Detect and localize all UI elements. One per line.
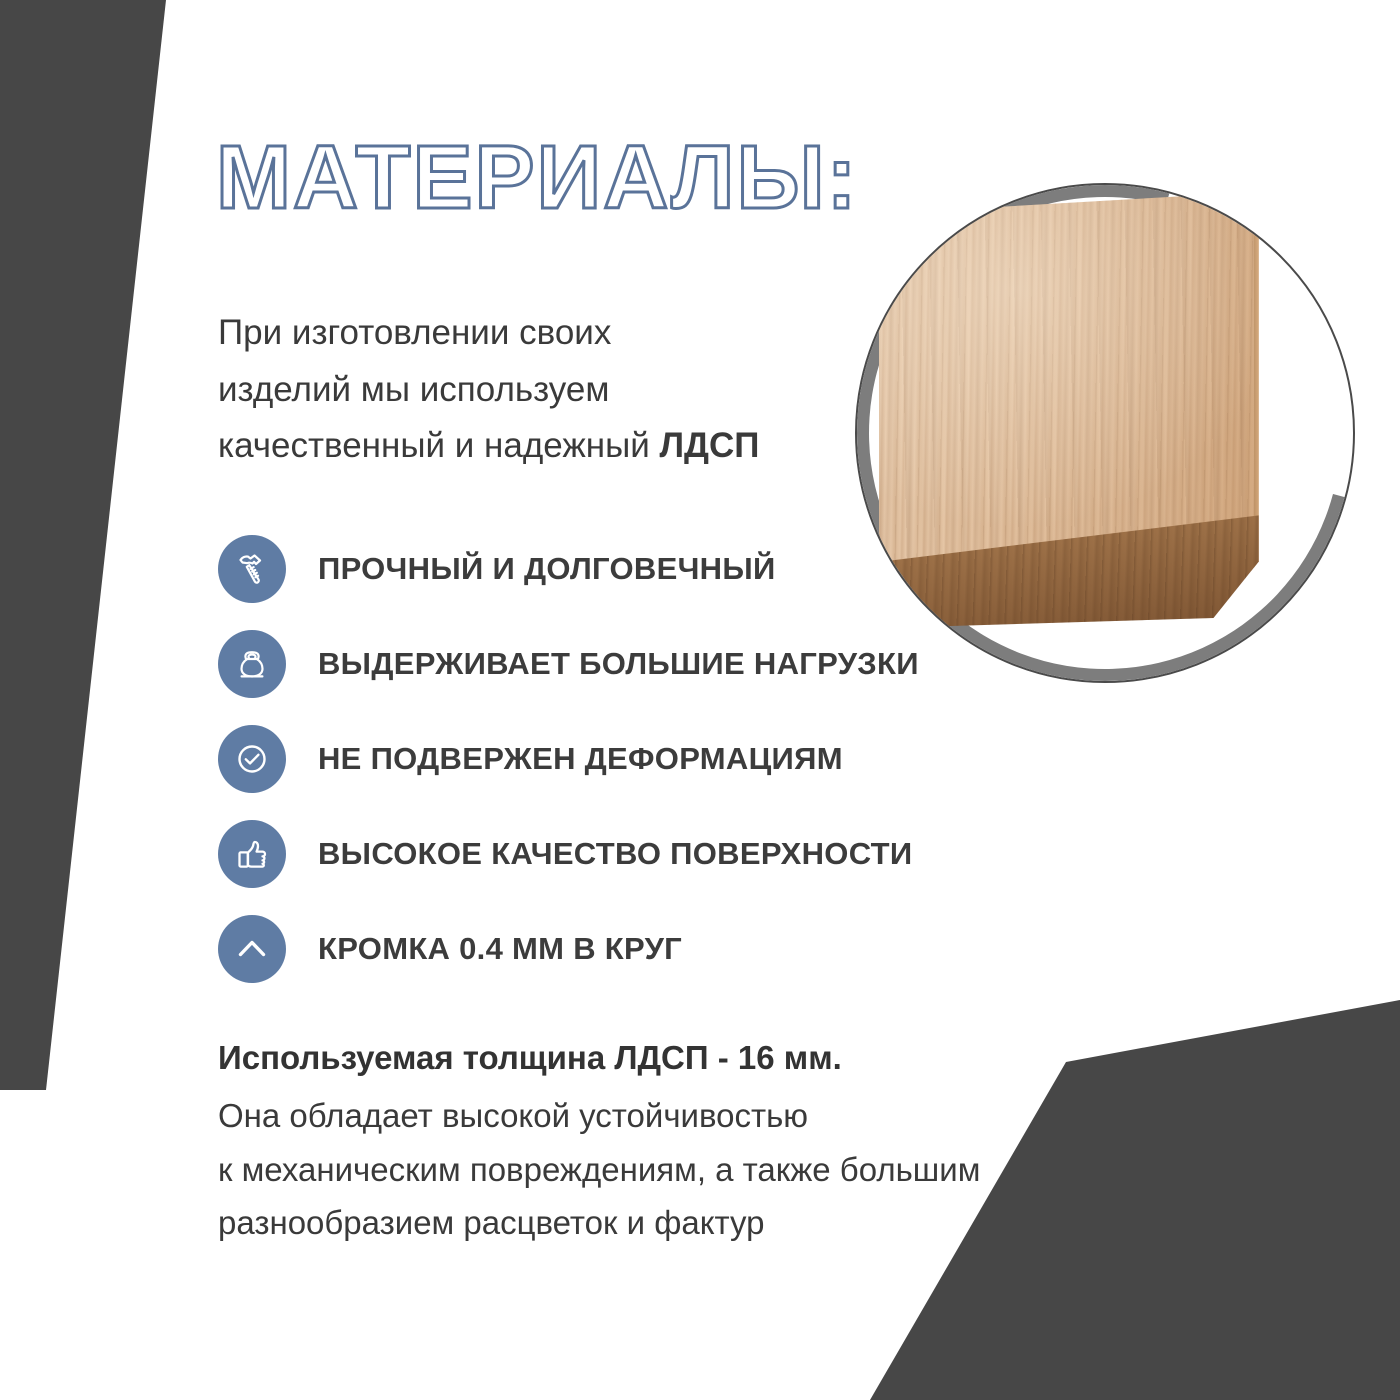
feature-label: КРОМКА 0.4 ММ В КРУГ: [318, 931, 682, 967]
feature-item-load-bearing: ВЫДЕРЖИВАЕТ БОЛЬШИЕ НАГРУЗКИ: [218, 616, 978, 711]
bottom-description: Используемая толщина ЛДСП - 16 мм. Она о…: [218, 1032, 1178, 1250]
intro-line-3: качественный и надежный ЛДСП: [218, 418, 878, 475]
material-name-highlight: ЛДСП: [660, 426, 760, 465]
feature-label: ВЫДЕРЖИВАЕТ БОЛЬШИЕ НАГРУЗКИ: [318, 646, 919, 682]
feature-label: ПРОЧНЫЙ И ДОЛГОВЕЧНЫЙ: [318, 551, 776, 587]
bottom-line-1: Она обладает высокой устойчивостью: [218, 1089, 1178, 1142]
chevron-up-icon: [218, 915, 286, 983]
intro-paragraph: При изготовлении своих изделий мы исполь…: [218, 305, 878, 475]
intro-line-3-text: качественный и надежный: [218, 426, 660, 465]
thickness-statement: Используемая толщина ЛДСП - 16 мм.: [218, 1032, 1178, 1083]
feature-label: ВЫСОКОЕ КАЧЕСТВО ПОВЕРХНОСТИ: [318, 836, 912, 872]
check-circle-icon: [218, 725, 286, 793]
feature-item-no-deformation: НЕ ПОДВЕРЖЕН ДЕФОРМАЦИЯМ: [218, 711, 978, 806]
hammer-icon: [218, 535, 286, 603]
bottom-line-3: разнообразием расцветок и фактур: [218, 1196, 1178, 1249]
page-title: МАТЕРИАЛЫ:: [216, 133, 859, 223]
intro-line-2: изделий мы используем: [218, 362, 878, 419]
thumbs-up-icon: [218, 820, 286, 888]
bottom-paragraph: Она обладает высокой устойчивостью к мех…: [218, 1089, 1178, 1249]
bottom-line-2: к механическим повреждениям, а также бол…: [218, 1143, 1178, 1196]
feature-label: НЕ ПОДВЕРЖЕН ДЕФОРМАЦИЯМ: [318, 741, 843, 777]
intro-line-1: При изготовлении своих: [218, 305, 878, 362]
feature-list: ПРОЧНЫЙ И ДОЛГОВЕЧНЫЙ ВЫДЕРЖИВАЕТ БОЛЬШИ…: [218, 521, 978, 996]
materials-infographic: МАТЕРИАЛЫ: При изготовлении своих издели…: [0, 0, 1400, 1400]
decorative-wedge-top-left: [0, 0, 200, 1090]
kettlebell-icon: [218, 630, 286, 698]
feature-item-edge-banding: КРОМКА 0.4 ММ В КРУГ: [218, 901, 978, 996]
feature-item-surface-quality: ВЫСОКОЕ КАЧЕСТВО ПОВЕРХНОСТИ: [218, 806, 978, 901]
feature-item-durable: ПРОЧНЫЙ И ДОЛГОВЕЧНЫЙ: [218, 521, 978, 616]
wood-board-photo-circle: [855, 183, 1355, 683]
